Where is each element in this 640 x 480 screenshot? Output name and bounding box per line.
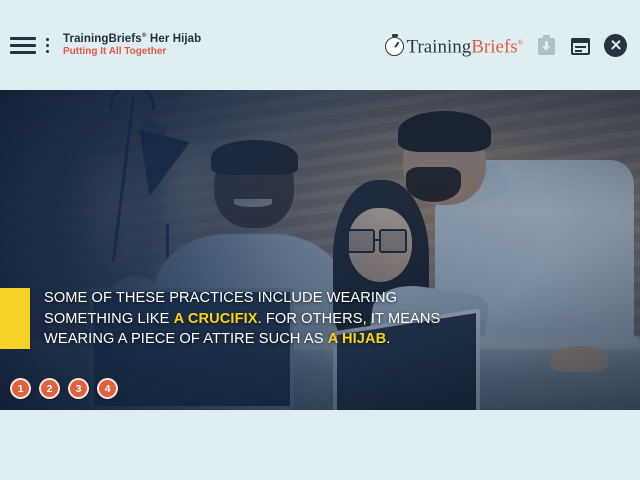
notes-icon-line <box>575 50 582 52</box>
hamburger-line <box>10 37 36 40</box>
pager-button-1[interactable]: 1 <box>10 378 31 399</box>
page-title: TrainingBriefs® Her Hijab <box>63 32 201 46</box>
page-title-rest: Her Hijab <box>147 33 202 45</box>
pager-button-3[interactable]: 3 <box>68 378 89 399</box>
trainingbriefs-logo: TrainingBriefs® <box>385 34 523 56</box>
hamburger-icon[interactable] <box>10 37 36 54</box>
caption-highlight-crucifix: A CRUCIFIX <box>174 311 258 327</box>
page-title-brand: TrainingBriefs <box>63 33 142 45</box>
notes-icon-header-bar <box>571 38 590 43</box>
course-title-block: TrainingBriefs® Her Hijab Putting It All… <box>63 32 201 58</box>
kebab-dot <box>46 38 49 41</box>
more-options-icon[interactable] <box>40 38 54 53</box>
player-footer <box>0 410 640 480</box>
kebab-dot <box>46 50 49 53</box>
header-right-group: TrainingBriefs® <box>385 34 640 57</box>
caption-block: SOME OF THESE PRACTICES INCLUDE WEARING … <box>0 288 640 350</box>
pager-button-4[interactable]: 4 <box>97 378 118 399</box>
logo-registered-mark: ® <box>518 39 523 47</box>
scene-photo <box>0 90 640 410</box>
close-icon[interactable] <box>604 34 627 57</box>
caption-highlight-hijab: A HIJAB <box>328 331 387 347</box>
training-player-window: TrainingBriefs® Her Hijab Putting It All… <box>0 0 640 480</box>
save-icon-arrow-head <box>542 46 550 51</box>
save-download-icon[interactable] <box>536 35 557 56</box>
hamburger-line <box>10 44 36 47</box>
hamburger-line <box>10 51 36 54</box>
slide-pager[interactable]: 1 2 3 4 <box>10 378 118 399</box>
header-left-group: TrainingBriefs® Her Hijab Putting It All… <box>0 32 201 58</box>
pager-button-2[interactable]: 2 <box>39 378 60 399</box>
caption-accent-bar <box>0 288 30 349</box>
page-subtitle: Putting It All Together <box>63 46 201 58</box>
vignette-overlay <box>0 90 640 410</box>
notes-icon[interactable] <box>570 35 591 56</box>
app-header: TrainingBriefs® Her Hijab Putting It All… <box>0 0 640 90</box>
video-stage[interactable]: SOME OF THESE PRACTICES INCLUDE WEARING … <box>0 90 640 410</box>
logo-word-training: Training <box>406 36 471 57</box>
caption-segment: . <box>386 331 390 347</box>
logo-wordmark: TrainingBriefs® <box>406 34 523 56</box>
caption-text: SOME OF THESE PRACTICES INCLUDE WEARING … <box>44 288 464 350</box>
logo-word-briefs: Briefs <box>471 36 517 57</box>
stopwatch-icon <box>385 37 404 56</box>
notes-icon-line <box>575 46 586 48</box>
kebab-dot <box>46 44 49 47</box>
